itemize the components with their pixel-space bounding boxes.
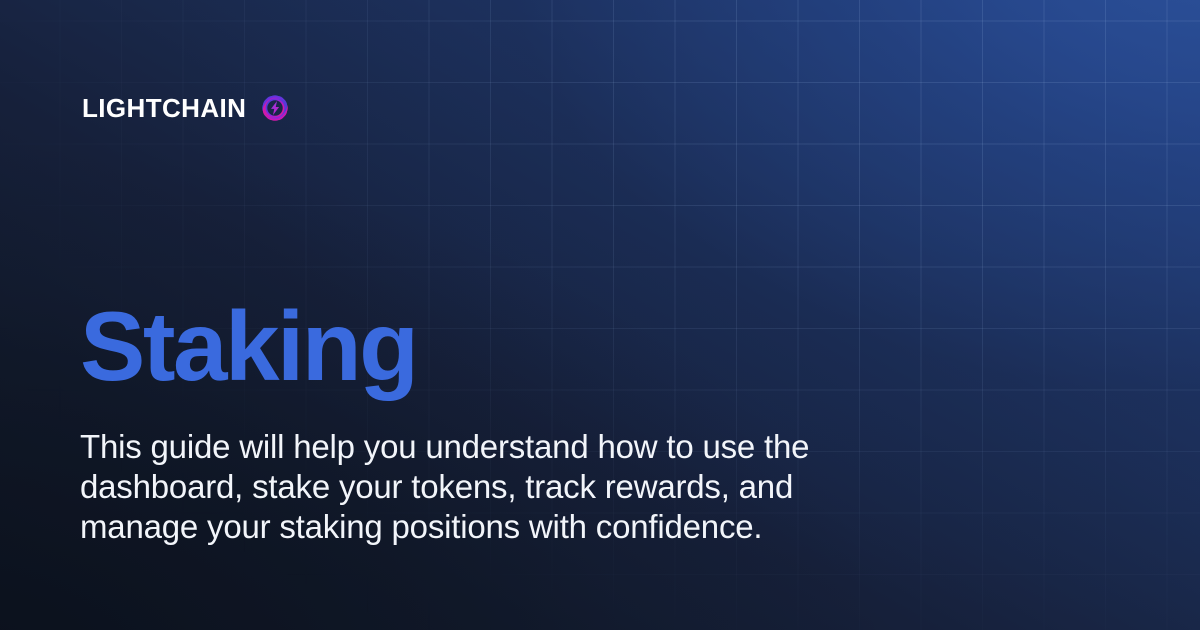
page-title: Staking <box>80 297 416 395</box>
brand-logo[interactable]: LIGHTCHAIN <box>82 88 295 128</box>
hero-banner: LIGHTCHAIN <box>0 0 1200 630</box>
brand-wordmark: LIGHTCHAIN <box>82 95 246 121</box>
lightning-bolt-rosette-icon <box>255 88 295 128</box>
page-description: This guide will help you understand how … <box>80 427 880 547</box>
